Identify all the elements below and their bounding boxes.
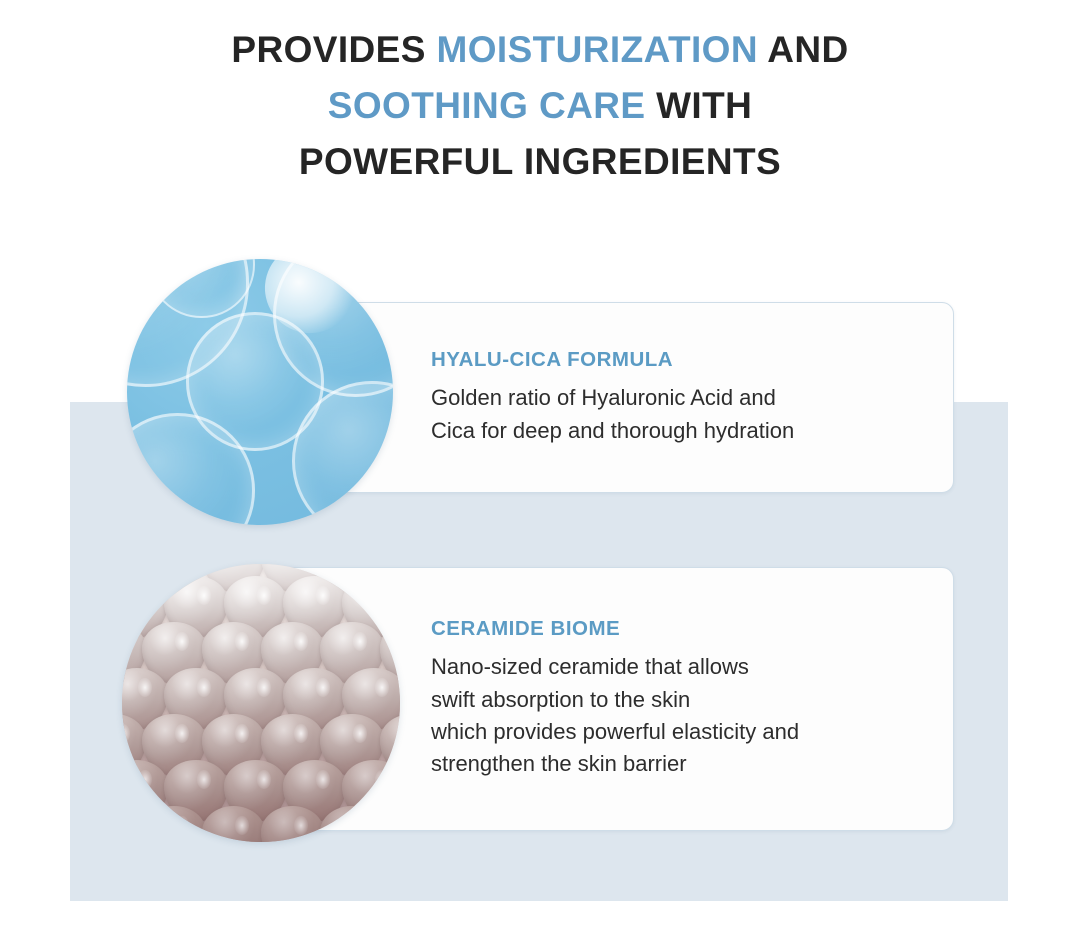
headline-line-2: SOOTHING CARE WITH (0, 78, 1080, 134)
headline-line-1: PROVIDES MOISTURIZATION AND (0, 22, 1080, 78)
feature-card-1-title: HYALU-CICA FORMULA (431, 348, 935, 372)
feature-card-1-body-line-2: Cica for deep and thorough hydration (431, 415, 935, 447)
feature-card-1-body: Golden ratio of Hyaluronic Acid and Cica… (431, 382, 935, 447)
headline-text-provides: PROVIDES (231, 29, 436, 70)
ceramide-dome (380, 806, 400, 842)
ceramide-dome (261, 806, 324, 842)
ceramide-scale-texture-image (122, 564, 400, 842)
feature-card-2-text: CERAMIDE BIOME Nano-sized ceramide that … (431, 568, 935, 830)
hyaluronic-gel-bubbles-image (127, 259, 393, 525)
headline-accent-moisturization: MOISTURIZATION (437, 29, 758, 70)
feature-card-2-title: CERAMIDE BIOME (431, 617, 935, 641)
headline-text-with: WITH (645, 85, 752, 126)
page-title: PROVIDES MOISTURIZATION AND SOOTHING CAR… (0, 22, 1080, 191)
ceramide-dome-row (122, 806, 400, 842)
ceramide-dome (142, 806, 205, 842)
feature-card-1-text: HYALU-CICA FORMULA Golden ratio of Hyalu… (431, 303, 935, 492)
feature-card-2-body-line-4: strengthen the skin barrier (431, 748, 935, 780)
headline-line-3: POWERFUL INGREDIENTS (0, 134, 1080, 190)
feature-card-2-body-line-3: which provides powerful elasticity and (431, 716, 935, 748)
feature-card-1-body-line-1: Golden ratio of Hyaluronic Acid and (431, 382, 935, 414)
feature-card-2-body-line-1: Nano-sized ceramide that allows (431, 651, 935, 683)
headline-accent-soothing-care: SOOTHING CARE (328, 85, 646, 126)
feature-card-2-body: Nano-sized ceramide that allows swift ab… (431, 651, 935, 780)
headline-text-and: AND (758, 29, 849, 70)
feature-card-2-body-line-2: swift absorption to the skin (431, 684, 935, 716)
ceramide-dome (202, 806, 265, 842)
infographic-page: PROVIDES MOISTURIZATION AND SOOTHING CAR… (0, 0, 1080, 931)
ceramide-dome (320, 806, 383, 842)
